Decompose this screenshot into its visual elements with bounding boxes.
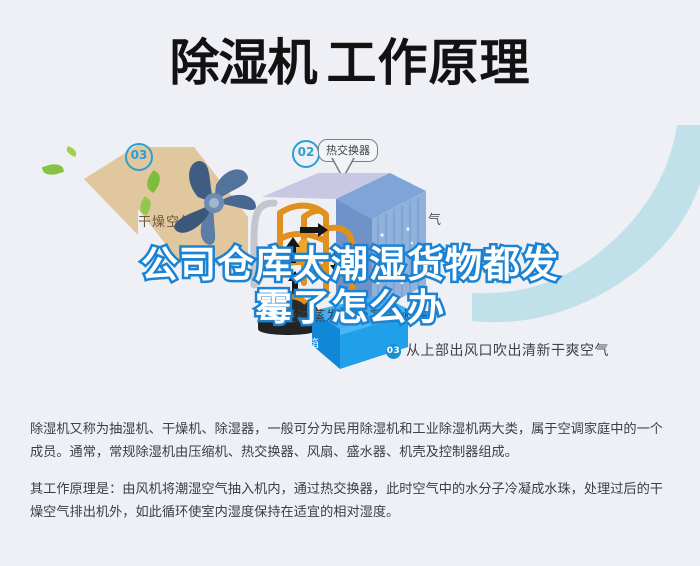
water-tank-label: 水箱: [296, 335, 320, 351]
dehumidifier-diagram: 干燥空气 潮湿空气 03 02 01 热交换器: [0, 125, 700, 400]
title-part-1: 除湿机: [170, 34, 317, 92]
step-mini-badge-03: 03: [386, 344, 401, 359]
humid-air-swoosh-icon: [410, 125, 700, 345]
step-badge-03: 03: [125, 143, 153, 171]
dehumidifier-unit-icon: [240, 143, 430, 373]
step-line-03-text: 从上部出风口吹出清新干爽空气: [406, 343, 609, 359]
page-title: 除湿机工作原理: [0, 28, 700, 108]
body-paragraph-2: 其工作原理是：由风机将潮湿空气抽入机内，通过热交换器，此时空气中的水分子冷凝成水…: [30, 478, 675, 524]
body-paragraph-1: 除湿机又称为抽湿机、干燥机、除湿器，一般可分为民用除湿机和工业除湿机两大类，属于…: [30, 418, 675, 464]
leaf-icon: [42, 161, 64, 178]
title-part-2: 工作原理: [327, 34, 531, 92]
title-text: 除湿机工作原理: [0, 28, 700, 98]
step-line-02: 气经过蒸发器冷凝成水珠: [268, 306, 428, 326]
step-line-03: 03从上部出风口吹出清新干爽空气: [386, 340, 609, 360]
article-body: 除湿机又称为抽湿机、干燥机、除湿器，一般可分为民用除湿机和工业除湿机两大类，属于…: [30, 418, 675, 524]
step-line-02-text: 气经过蒸发器冷凝成水珠: [268, 309, 428, 325]
infographic-page: 除湿机工作原理 干燥空气 潮湿空气 03 02 01 热交换器: [0, 0, 700, 566]
leaf-icon: [65, 146, 78, 157]
